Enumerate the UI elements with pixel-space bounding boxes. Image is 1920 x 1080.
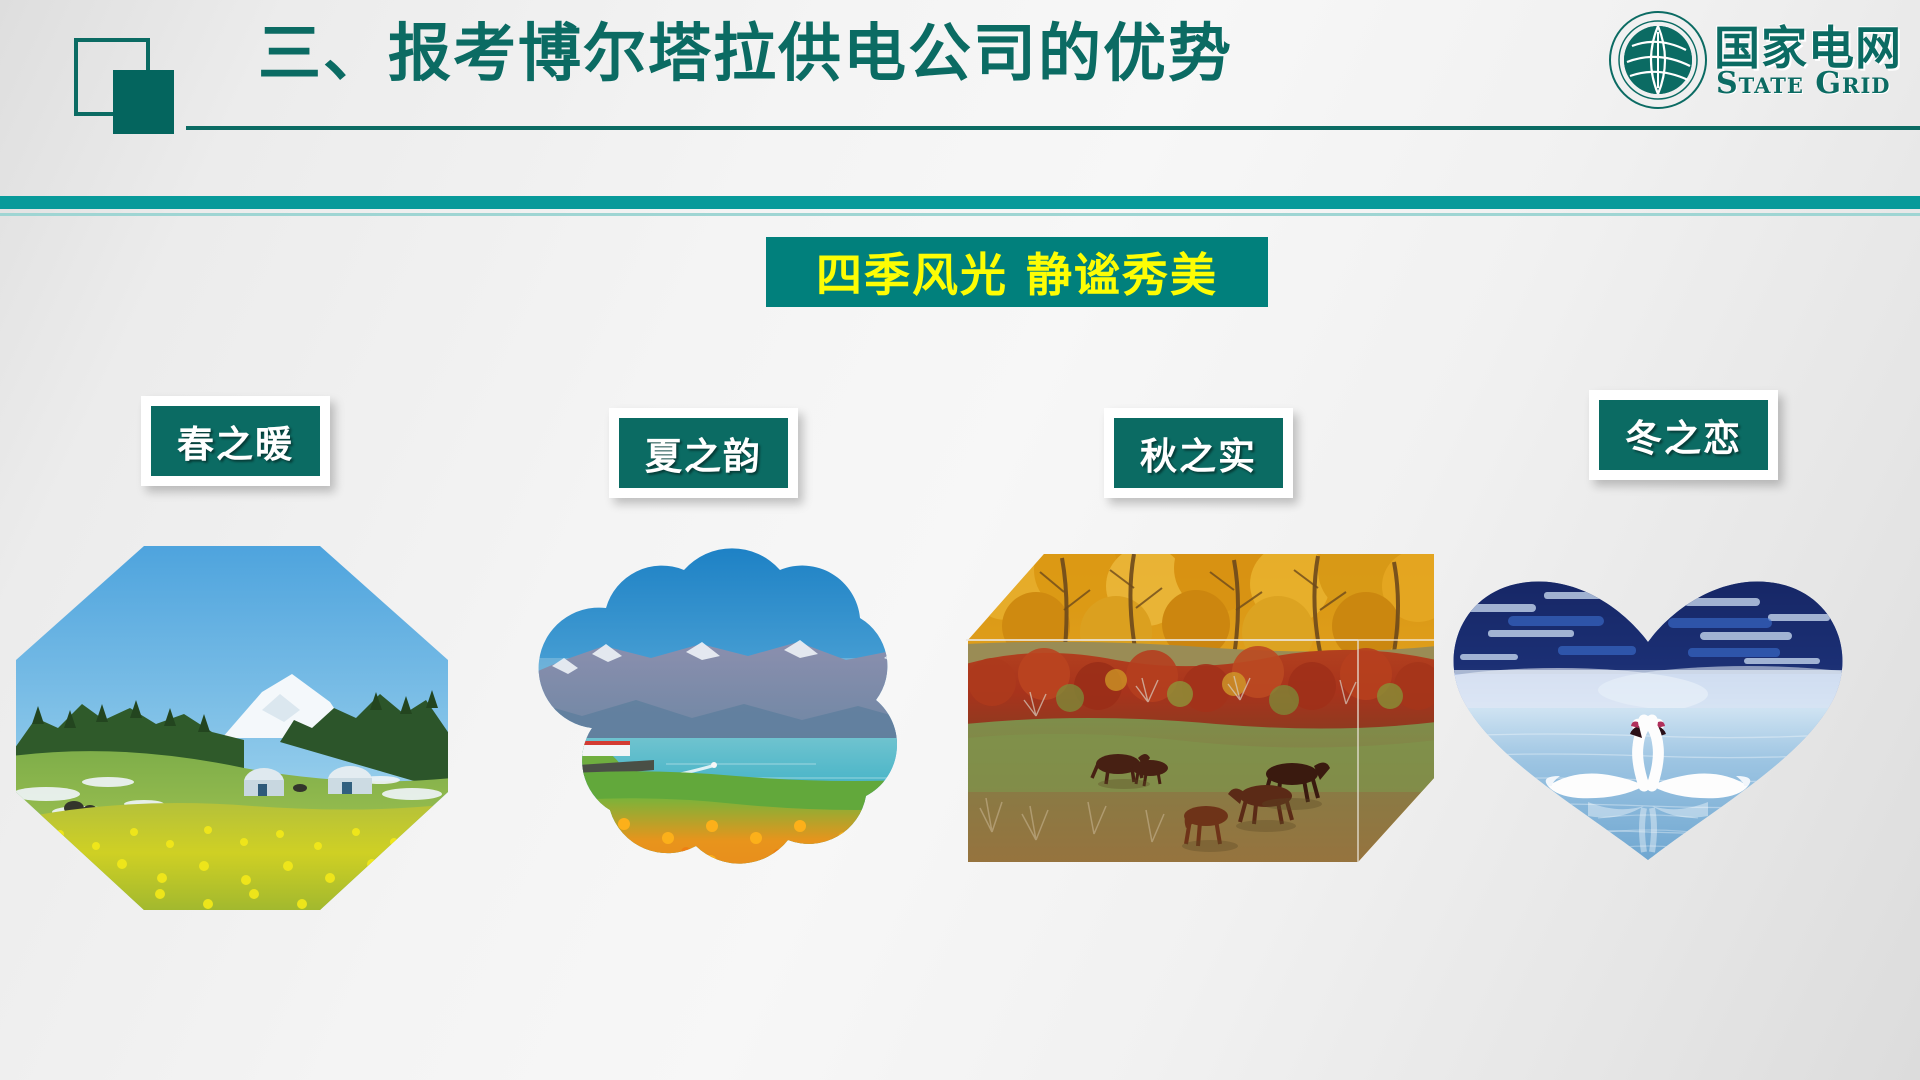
winter-swans-illustration	[1448, 570, 1848, 862]
spring-meadow-illustration	[12, 542, 452, 914]
logo-english-text: State Grid	[1716, 66, 1890, 101]
season-label-autumn[interactable]: 秋之实	[1104, 408, 1293, 498]
season-image-spring	[12, 542, 452, 914]
decorative-square-filled-icon	[113, 70, 174, 134]
season-label-autumn-inner: 秋之实	[1114, 418, 1283, 488]
season-label-summer[interactable]: 夏之韵	[609, 408, 798, 498]
season-label-summer-inner: 夏之韵	[619, 418, 788, 488]
season-label-winter-inner: 冬之恋	[1599, 400, 1768, 470]
season-label-autumn-text: 秋之实	[1140, 426, 1257, 480]
season-label-winter[interactable]: 冬之恋	[1589, 390, 1778, 480]
header-divider-thin	[0, 213, 1920, 216]
season-image-winter	[1448, 570, 1848, 862]
season-label-spring-inner: 春之暖	[151, 406, 320, 476]
autumn-forest-illustration	[966, 552, 1436, 864]
slide-header: 三、报考博尔塔拉供电公司的优势 国家电网 State Grid	[0, 0, 1920, 196]
header-divider-thick	[0, 196, 1920, 209]
section-banner-text: 四季风光 静谧秀美	[816, 239, 1218, 305]
season-label-winter-text: 冬之恋	[1625, 408, 1742, 462]
season-label-spring-text: 春之暖	[177, 414, 294, 468]
page-title: 三、报考博尔塔拉供电公司的优势	[258, 22, 1233, 85]
slide-canvas: 三、报考博尔塔拉供电公司的优势 国家电网 State Grid 四季风光 静谧秀…	[0, 0, 1920, 1080]
season-image-summer	[486, 538, 968, 920]
season-label-summer-text: 夏之韵	[645, 426, 762, 480]
section-banner: 四季风光 静谧秀美	[766, 237, 1268, 307]
state-grid-emblem-icon	[1608, 10, 1708, 110]
season-image-autumn	[966, 552, 1436, 864]
title-underline	[186, 126, 1920, 130]
state-grid-logo: 国家电网 State Grid	[1608, 8, 1908, 112]
season-label-spring[interactable]: 春之暖	[141, 396, 330, 486]
summer-lake-illustration	[486, 538, 968, 920]
